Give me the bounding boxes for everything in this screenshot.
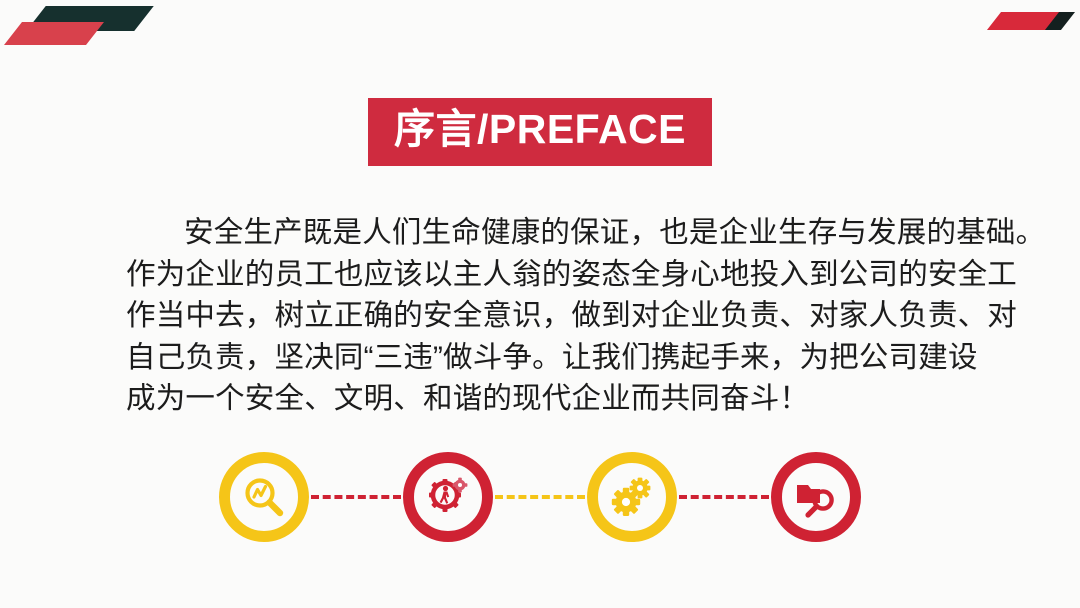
dashed-connector-2	[495, 495, 585, 499]
icon-badge-gear-worker[interactable]	[403, 452, 493, 542]
title-banner-container: 序言/PREFACE	[0, 98, 1080, 166]
icon-row	[0, 452, 1080, 542]
top-left-decoration	[0, 0, 200, 70]
page-title: 序言/PREFACE	[394, 107, 686, 153]
icon-badge-magnifier-chart[interactable]	[219, 452, 309, 542]
paragraph-line: 安全生产既是人们生命健康的保证，也是企业生存与发展的基础。	[126, 212, 954, 254]
folder-search-icon	[793, 474, 839, 520]
icon-badge-folder-search[interactable]	[771, 452, 861, 542]
preface-paragraph: 安全生产既是人们生命健康的保证，也是企业生存与发展的基础。 作为企业的员工也应该…	[126, 212, 954, 420]
red-parallelogram-icon	[4, 22, 104, 45]
magnifier-chart-icon	[241, 474, 287, 520]
paragraph-line: 作当中去，树立正确的安全意识，做到对企业负责、对家人负责、对	[126, 295, 954, 337]
paragraph-line: 作为企业的员工也应该以主人翁的姿态全身心地投入到公司的安全工	[126, 254, 954, 296]
paragraph-line: 成为一个安全、文明、和谐的现代企业而共同奋斗！	[126, 378, 954, 420]
title-banner: 序言/PREFACE	[368, 98, 712, 166]
dashed-connector-3	[679, 495, 769, 499]
paragraph-line: 自己负责，坚决同“三违”做斗争。让我们携起手来，为把公司建设	[126, 337, 954, 379]
icon-badge-gears[interactable]	[587, 452, 677, 542]
top-right-decoration	[960, 0, 1080, 60]
dashed-connector-1	[311, 495, 401, 499]
gears-icon	[609, 474, 655, 520]
gear-worker-icon	[425, 474, 471, 520]
